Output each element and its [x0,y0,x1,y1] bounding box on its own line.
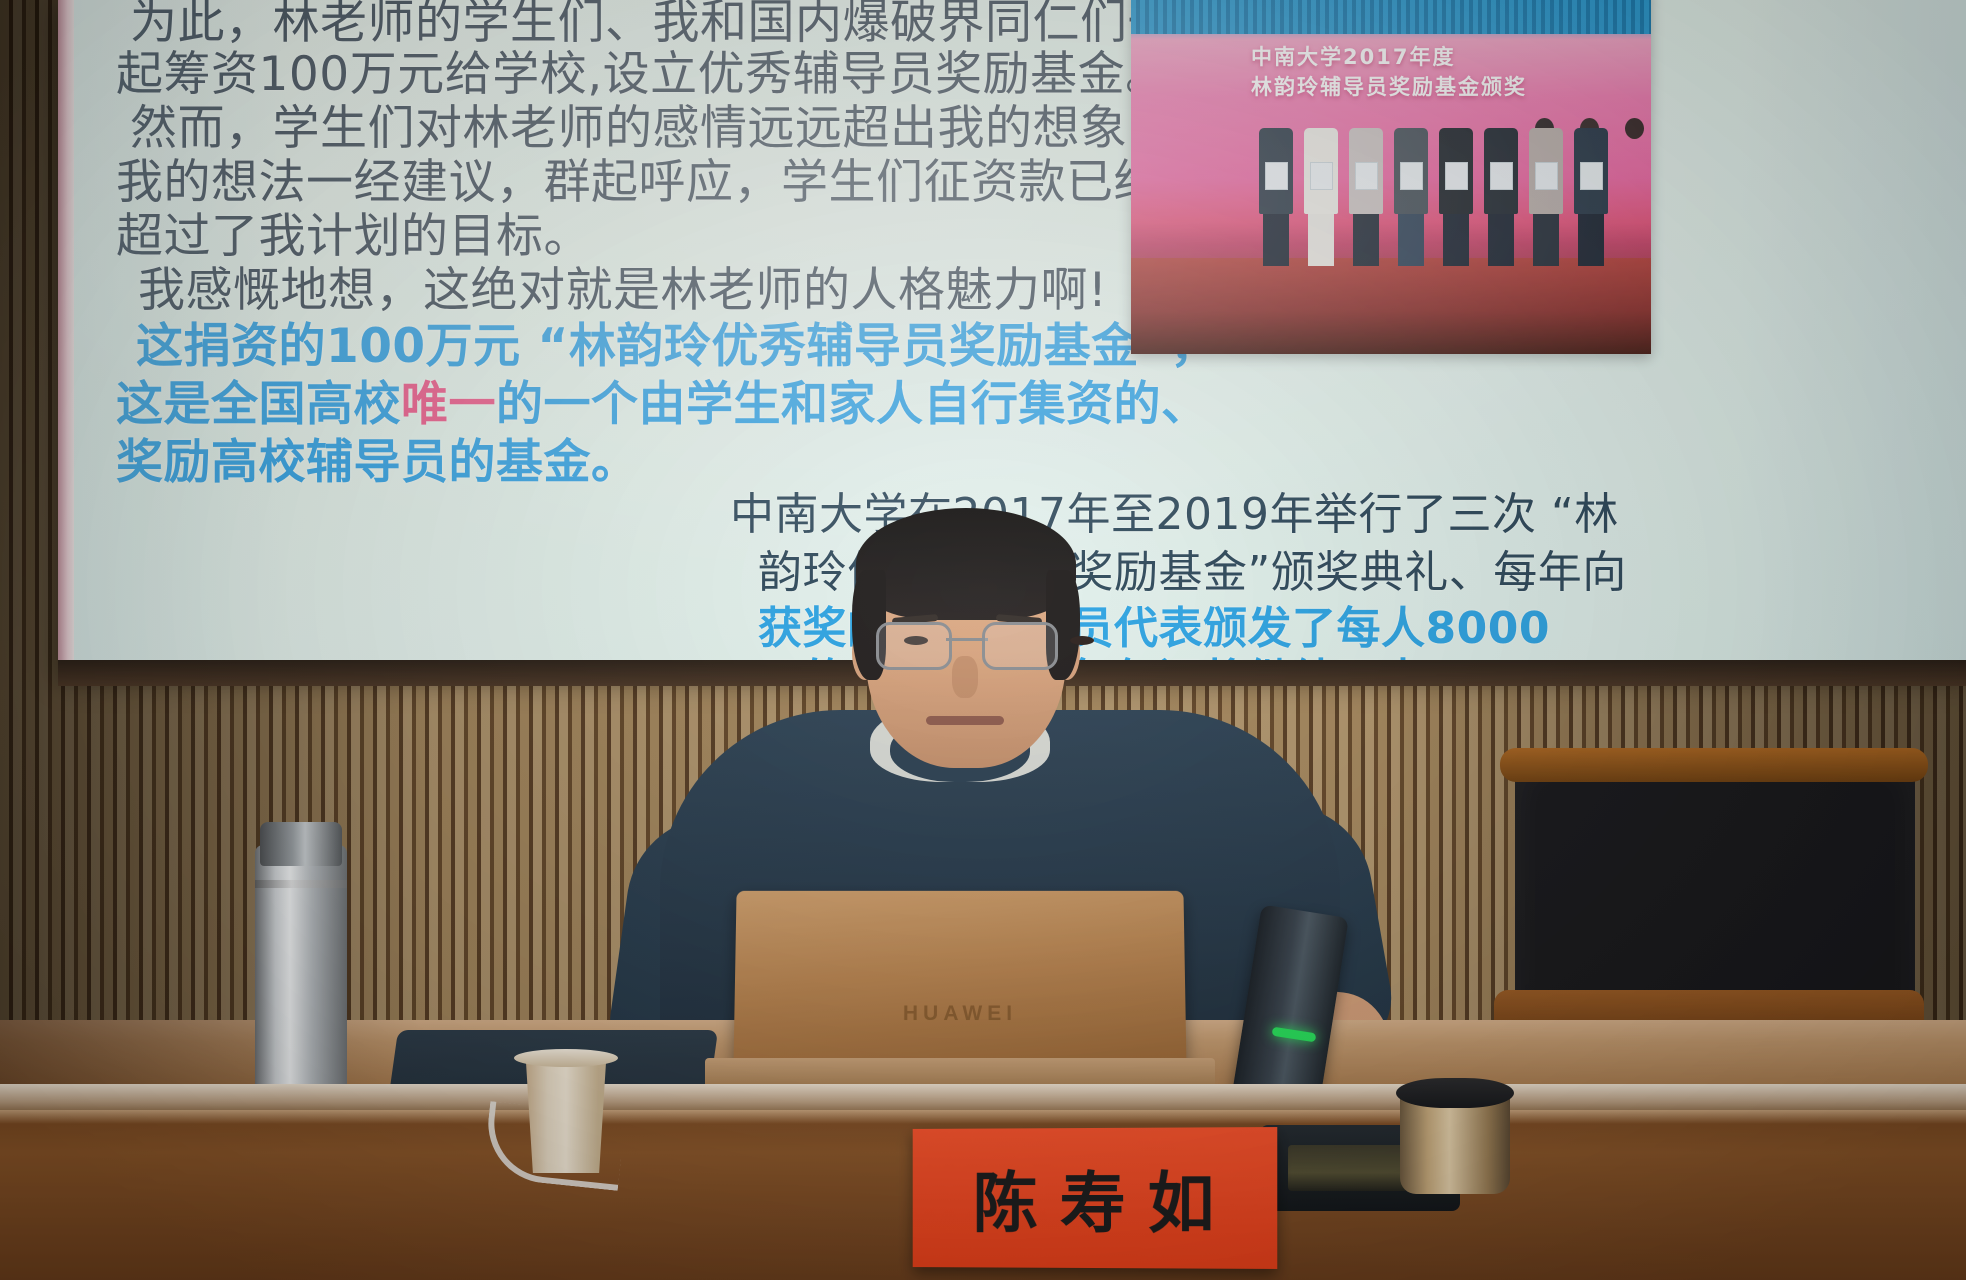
photo-person [1259,126,1293,266]
slide-body-line-3: 然而，学生们对林老师的感情远远超出我的想象， [130,104,1175,154]
slide-body-line-2: 起筹资100万元给学校,设立优秀辅导员奖励基金。 [116,50,1173,100]
slide-body-line-6: 我感慨地想，这绝对就是林老师的人格魅力啊! [138,266,1107,316]
photo-person [1304,126,1338,266]
eyeglass-lens-left [876,622,952,670]
photo-person [1574,126,1608,266]
photo-stage-floor [1131,258,1651,354]
speaker-mouth [926,716,1004,725]
photo-person [1439,126,1473,266]
laptop-lid: HUAWEI [733,891,1186,1071]
thermos-cap [260,822,342,866]
paper-cup-rim [514,1049,618,1067]
photo-person [1529,126,1563,266]
office-chair-right-headrest [1500,748,1928,782]
paper-cup [520,1055,612,1173]
right-line-2-tail: 每年向 [1493,547,1627,598]
name-placard: 陈寿如 [913,1127,1278,1269]
photo-person [1349,126,1383,266]
slide-highlight-line-2: 这是全国高校唯一的一个由学生和家人自行集资的、 [116,380,1209,430]
laptop-brand-logo: HUAWEI [734,1002,1186,1026]
photo-person [1394,126,1428,266]
microphone-base-display [1288,1145,1408,1191]
slide-body-line-1: 为此，林老师的学生们、我和国内爆破界同仁们一 [130,0,1175,48]
photo-stage-curtain [1131,0,1651,34]
name-placard-text: 陈寿如 [951,1149,1237,1246]
desk-front-highlight [0,1110,1966,1124]
screenshot-root: 为此，林老师的学生们、我和国内爆破界同仁们一 起筹资100万元给学校,设立优秀辅… [0,0,1966,1280]
highlight-line-2-emphasis: 唯一 [401,377,496,432]
speaker-hair [856,508,1076,620]
eyeglass-lens-right [982,622,1058,670]
highlight-line-2-prefix: 这是全国高校 [116,377,401,432]
slide-body-line-5: 超过了我计划的目标。 [116,212,591,262]
photo-banner-text: 中南大学2017年度 林韵玲辅导员奖励基金颁奖 [1251,42,1651,103]
photo-people-row [1259,126,1608,266]
speaker-eye-right [1070,636,1094,645]
slide-photo-award-ceremony: 中南大学2017年度 林韵玲辅导员奖励基金颁奖 [1131,0,1651,354]
thermos-ring [255,880,347,888]
slide-highlight-line-1: 这捐资的100万元 “林韵玲优秀辅导员奖励基金”， [136,322,1218,372]
speaker-nose [952,656,978,698]
photo-banner-line-2: 林韵玲辅导员奖励基金颁奖 [1251,72,1651,102]
slide-highlight-line-3: 奖励高校辅导员的基金。 [116,438,639,488]
photo-person [1484,126,1518,266]
screen-left-edge [58,0,74,672]
photo-banner-line-1: 中南大学2017年度 [1251,42,1651,72]
highlight-line-2-suffix: 的一个由学生和家人自行集资的、 [496,377,1209,432]
slide-body-line-4: 我的想法一经建议，群起呼应，学生们征资款已经 [116,158,1161,208]
tea-tumbler-lid [1396,1078,1514,1108]
